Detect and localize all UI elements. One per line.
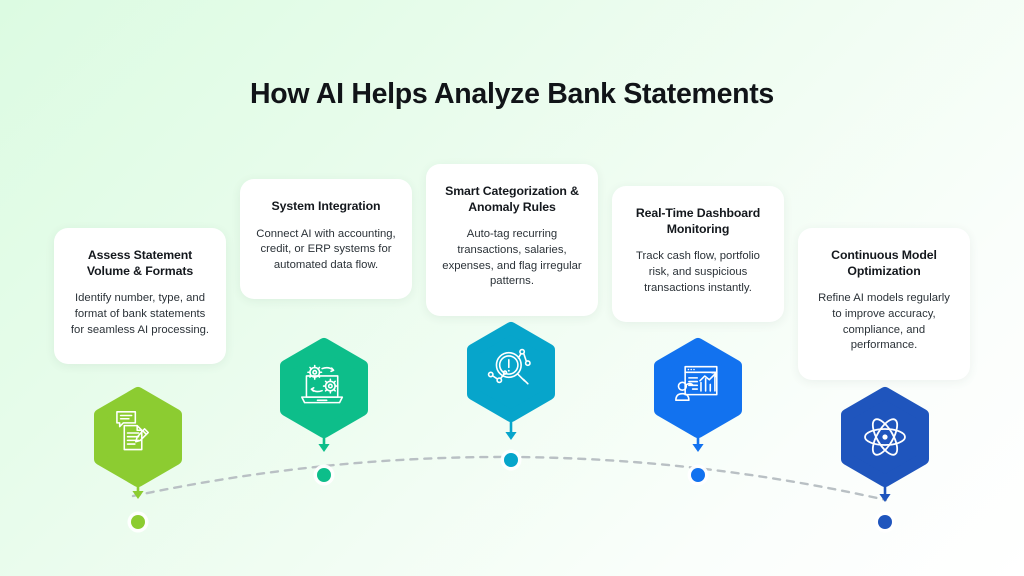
step-card-title: Smart Categorization & Anomaly Rules bbox=[440, 184, 584, 215]
step-hexagon-2[interactable] bbox=[282, 342, 366, 434]
step-card-description: Identify number, type, and format of ban… bbox=[68, 291, 212, 338]
step-hexagon-5[interactable] bbox=[843, 391, 927, 483]
step-card-title: System Integration bbox=[254, 199, 398, 215]
infographic-canvas: How AI Helps Analyze Bank Statements Ass… bbox=[0, 0, 1024, 576]
step-hexagon-4[interactable] bbox=[656, 342, 740, 434]
step-card-title: Assess Statement Volume & Formats bbox=[68, 248, 212, 279]
step-dot-3 bbox=[504, 453, 518, 467]
step-card-4[interactable]: Real-Time Dashboard Monitoring Track cas… bbox=[612, 186, 784, 322]
step-card-title: Continuous Model Optimization bbox=[812, 248, 956, 279]
step-card-title: Real-Time Dashboard Monitoring bbox=[626, 206, 770, 237]
hexagon-shape bbox=[286, 344, 362, 432]
step-card-2[interactable]: System Integration Connect AI with accou… bbox=[240, 179, 412, 299]
step-dot-1 bbox=[131, 515, 145, 529]
step-card-5[interactable]: Continuous Model Optimization Refine AI … bbox=[798, 228, 970, 380]
step-connector-5 bbox=[875, 481, 896, 533]
step-hexagon-3[interactable] bbox=[469, 326, 553, 418]
step-connector-1 bbox=[128, 481, 149, 533]
step-card-description: Connect AI with accounting, credit, or E… bbox=[254, 227, 398, 274]
step-connector-4 bbox=[688, 432, 709, 486]
step-card-3[interactable]: Smart Categorization & Anomaly Rules Aut… bbox=[426, 164, 598, 316]
step-card-description: Auto-tag recurring transactions, salarie… bbox=[440, 227, 584, 289]
step-card-1[interactable]: Assess Statement Volume & Formats Identi… bbox=[54, 228, 226, 364]
step-hexagon-1[interactable] bbox=[96, 391, 180, 483]
step-connector-3 bbox=[501, 416, 522, 471]
hexagon-shape bbox=[473, 328, 549, 416]
step-dot-4 bbox=[691, 468, 705, 482]
hexagon-shape bbox=[660, 344, 736, 432]
step-dot-2 bbox=[317, 468, 331, 482]
step-connector-2 bbox=[314, 432, 335, 486]
step-dot-5 bbox=[878, 515, 892, 529]
step-card-description: Track cash flow, portfolio risk, and sus… bbox=[626, 249, 770, 296]
step-card-description: Refine AI models regularly to improve ac… bbox=[812, 291, 956, 353]
